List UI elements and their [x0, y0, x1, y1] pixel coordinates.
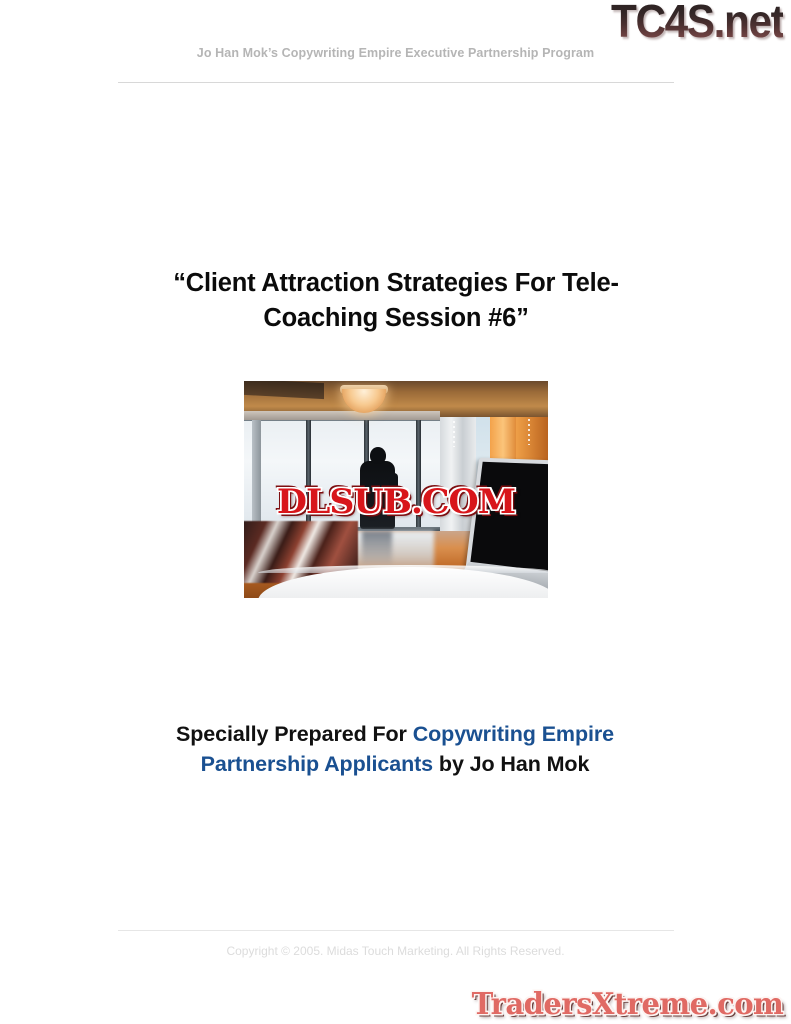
blind-cord — [528, 419, 530, 445]
header-divider — [118, 82, 674, 83]
businessman-head — [370, 447, 386, 464]
boardroom-photo: DLSUB.COM — [244, 381, 548, 598]
page-title: “Client Attraction Strategies For Tele- … — [115, 266, 677, 335]
subtitle-lead: Specially Prepared For — [176, 722, 413, 746]
subtitle-trail: by Jo Han Mok — [433, 752, 589, 776]
footer-divider — [118, 930, 674, 931]
title-line-1: “Client Attraction Strategies For Tele- — [173, 269, 619, 297]
page-subtitle: Specially Prepared For Copywriting Empir… — [130, 720, 660, 779]
businessman-reflection — [362, 531, 392, 565]
running-header: Jo Han Mok’s Copywriting Empire Executiv… — [0, 46, 791, 60]
window-left-post — [252, 415, 261, 533]
tc4s-watermark: TC4S.net — [611, 0, 783, 44]
copyright-notice: Copyright © 2005. Midas Touch Marketing.… — [0, 944, 791, 958]
document-page: TC4S.net Jo Han Mok’s Copywriting Empire… — [0, 0, 791, 1024]
blind-cord — [453, 421, 455, 447]
ceiling-strip — [244, 411, 440, 420]
tradersxtreme-watermark: TradersXtreme.com — [471, 990, 783, 1020]
title-line-2: Coaching Session #6” — [263, 304, 528, 332]
cover-photo: DLSUB.COM — [244, 381, 548, 598]
dlsub-watermark: DLSUB.COM — [277, 485, 515, 519]
